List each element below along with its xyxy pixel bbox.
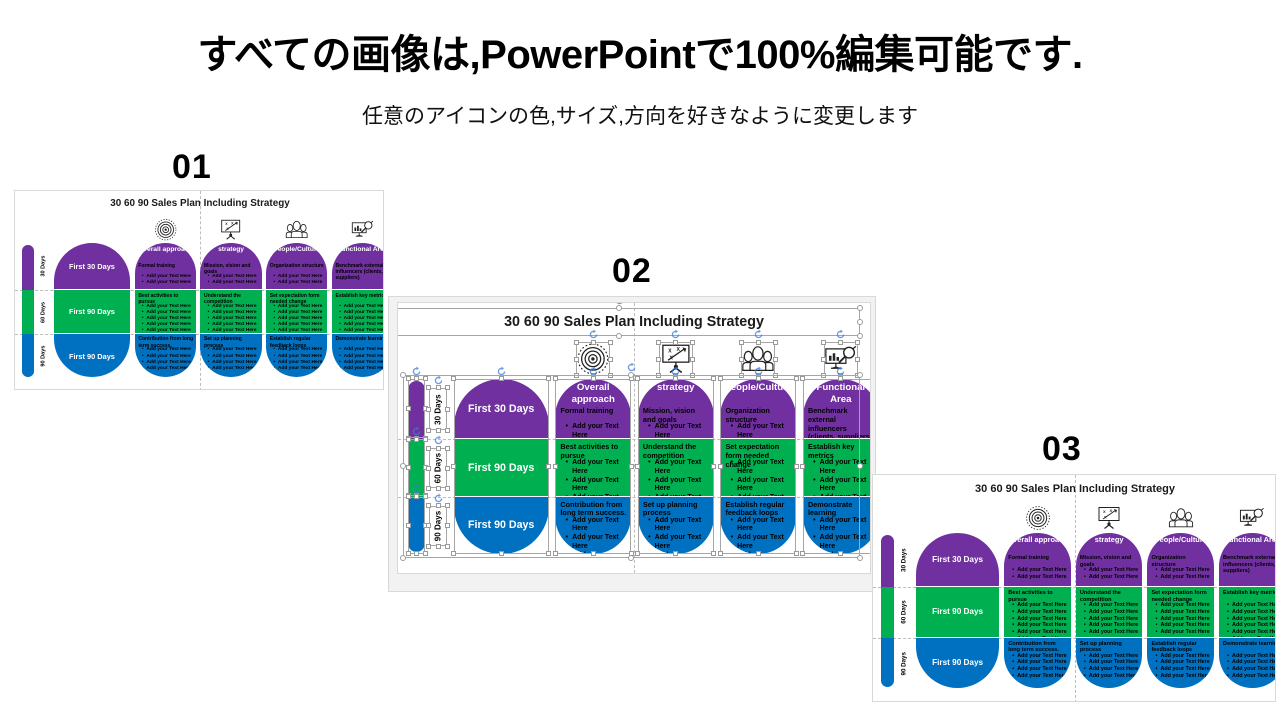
target-icon[interactable] [1025, 505, 1051, 531]
resize-handle[interactable] [608, 373, 613, 378]
phase-label-2: First 90 Days [916, 607, 999, 616]
content-block[interactable]: Establish regular feedback loopsAdd your… [720, 497, 796, 554]
bullet-item: Add your Text Here [1084, 659, 1141, 666]
resize-handle[interactable] [426, 407, 431, 412]
phase-label-3: First 90 Days [54, 352, 131, 361]
resize-handle[interactable] [673, 340, 678, 345]
content-block[interactable]: Establish key metricsAdd your Text HereA… [332, 290, 384, 333]
bullet-item: Add your Text Here [1012, 629, 1069, 636]
phase-label-1: First 30 Days [54, 262, 131, 271]
bullet-list: Add your Text HereAdd your Text Here [566, 423, 629, 438]
resize-handle[interactable] [426, 385, 431, 390]
resize-handle[interactable] [423, 551, 428, 556]
bullet-item: Add your Text Here [1155, 574, 1212, 581]
resize-handle[interactable] [423, 437, 428, 442]
people-group-icon[interactable] [285, 218, 308, 241]
resize-handle[interactable] [821, 373, 826, 378]
slide-thumbnail-03[interactable]: 30 60 90 Sales Plan Including Strategy30… [872, 474, 1276, 702]
column-heading: Functional Area [805, 382, 871, 404]
phase-label-1: First 30 Days [916, 555, 999, 564]
bullet-item: Add your Text Here [648, 459, 711, 477]
resize-handle[interactable] [855, 357, 860, 362]
step-number-01: 01 [172, 148, 212, 187]
block-subtitle: Understand the competition [643, 443, 710, 460]
bullet-item: Add your Text Here [648, 423, 711, 438]
bullet-list: Add your Text HereAdd your Text HereAdd … [1155, 653, 1212, 680]
resize-handle[interactable] [426, 523, 431, 528]
resize-handle[interactable] [773, 373, 778, 378]
whiteboard-strategy-icon[interactable]: XXX [219, 218, 242, 241]
resize-handle[interactable] [451, 464, 456, 469]
day-label-2: 60 Days [37, 290, 50, 334]
resize-handle[interactable] [553, 464, 558, 469]
resize-handle[interactable] [426, 428, 431, 433]
resize-handle[interactable] [574, 340, 579, 345]
column-heading: strategy [640, 382, 712, 393]
resize-handle[interactable] [857, 463, 863, 469]
bullet-list: Add your Text HereAdd your Text HereAdd … [1012, 653, 1069, 680]
resize-handle[interactable] [838, 340, 843, 345]
bullet-item: Add your Text Here [1227, 636, 1276, 637]
bullet-item: Add your Text Here [731, 494, 794, 496]
bullet-item: Add your Text Here [813, 534, 871, 552]
bullet-list: Add your Text HereAdd your Text Here [1155, 567, 1212, 581]
resize-handle[interactable] [616, 333, 622, 339]
resize-handle[interactable] [426, 544, 431, 549]
bullet-list: Add your Text HereAdd your Text HereAdd … [1084, 653, 1141, 680]
content-block[interactable]: strategyMission, vision and goalsAdd you… [1076, 533, 1143, 586]
resize-handle[interactable] [739, 357, 744, 362]
slide-thumbnail-01[interactable]: 30 60 90 Sales Plan Including Strategy30… [14, 190, 384, 390]
rotate-handle-icon[interactable] [588, 366, 599, 377]
block-subtitle: Demonstrate learning [335, 336, 384, 342]
block-subtitle: Formal training [138, 263, 193, 269]
target-icon[interactable] [154, 218, 177, 241]
resize-handle[interactable] [857, 372, 863, 378]
content-block[interactable]: People/CultureOrganization structureAdd … [720, 379, 796, 439]
content-block[interactable]: Set up planning processAdd your Text Her… [1076, 638, 1143, 688]
resize-handle[interactable] [629, 464, 634, 469]
bullet-item: Add your Text Here [1227, 629, 1276, 636]
bullet-item: Add your Text Here [1227, 602, 1276, 609]
bullet-list: Add your Text HereAdd your Text HereAdd … [566, 517, 629, 554]
content-block[interactable]: Contribution from long term success.Add … [555, 497, 631, 554]
block-subtitle: Benchmark external influencers (clients,… [1223, 555, 1276, 575]
column-heading: People/Culture [722, 382, 794, 393]
slide-title: 30 60 90 Sales Plan Including Strategy [15, 198, 384, 209]
resize-handle[interactable] [794, 551, 799, 556]
bullet-item: Add your Text Here [273, 328, 325, 333]
bullet-item: Add your Text Here [1012, 673, 1069, 680]
resize-handle[interactable] [406, 406, 411, 411]
content-block[interactable]: Overall approachFormal trainingAdd your … [135, 243, 196, 289]
content-block[interactable]: People/CultureOrganization structureAdd … [266, 243, 327, 289]
bullet-item: Add your Text Here [1012, 602, 1069, 609]
resize-handle[interactable] [499, 551, 504, 556]
resize-handle[interactable] [718, 551, 723, 556]
resize-handle[interactable] [406, 465, 411, 470]
bullet-item: Add your Text Here [731, 552, 794, 554]
bullet-item: Add your Text Here [1084, 609, 1141, 616]
resize-handle[interactable] [423, 494, 428, 499]
content-block[interactable]: Overall approachFormal trainingAdd your … [1004, 533, 1071, 586]
bullet-item: Add your Text Here [731, 423, 794, 438]
svg-text:X: X [668, 349, 672, 355]
resize-handle[interactable] [445, 523, 450, 528]
bullet-list: Add your Text HereAdd your Text HereAdd … [648, 459, 711, 496]
bullet-item: Add your Text Here [208, 366, 260, 372]
rotate-handle-icon[interactable] [670, 366, 681, 377]
resize-handle[interactable] [445, 486, 450, 491]
rotate-handle-icon[interactable] [670, 329, 681, 340]
rotate-handle-icon[interactable] [433, 493, 444, 504]
resize-handle[interactable] [756, 340, 761, 345]
resize-handle[interactable] [546, 376, 551, 381]
resize-handle[interactable] [800, 464, 805, 469]
resize-handle[interactable] [756, 551, 761, 556]
phase-block-1[interactable]: First 30 Days [54, 243, 131, 289]
rotate-handle-icon[interactable] [626, 362, 637, 373]
content-block[interactable]: Best activities to pursueAdd your Text H… [135, 290, 196, 333]
bullet-list: Add your Text HereAdd your Text HereAdd … [648, 517, 711, 554]
phase-block-3[interactable]: First 90 Days [454, 497, 549, 554]
resize-handle[interactable] [406, 551, 411, 556]
monitor-search-icon[interactable] [1239, 505, 1265, 531]
resize-handle[interactable] [574, 357, 579, 362]
bullet-item: Add your Text Here [1227, 673, 1276, 680]
resize-handle[interactable] [400, 372, 406, 378]
resize-handle[interactable] [608, 340, 613, 345]
timeline-bar-90-days[interactable] [22, 334, 34, 377]
resize-handle[interactable] [445, 446, 450, 451]
content-block[interactable]: Contribution from long term success.Add … [1004, 638, 1071, 688]
rotate-handle-icon[interactable] [496, 366, 507, 377]
resize-handle[interactable] [656, 340, 661, 345]
slide-title: 30 60 90 Sales Plan Including Strategy [398, 314, 870, 330]
phase-label-2: First 90 Days [454, 462, 549, 474]
resize-handle[interactable] [690, 340, 695, 345]
resize-handle[interactable] [838, 551, 843, 556]
resize-handle[interactable] [857, 319, 863, 325]
content-block[interactable]: Best activities to pursueAdd your Text H… [1004, 587, 1071, 637]
resize-handle[interactable] [800, 551, 805, 556]
resize-handle[interactable] [426, 486, 431, 491]
phase-block-3[interactable]: First 90 Days [916, 638, 999, 688]
resize-handle[interactable] [574, 373, 579, 378]
bullet-item: Add your Text Here [1084, 602, 1141, 609]
bullet-item: Add your Text Here [731, 534, 794, 552]
resize-handle[interactable] [718, 464, 723, 469]
resize-handle[interactable] [857, 555, 863, 561]
column-heading: Overall approach [557, 382, 629, 404]
resize-handle[interactable] [628, 555, 634, 561]
rotate-handle-icon[interactable] [588, 329, 599, 340]
step-number-02: 02 [612, 252, 652, 291]
content-block[interactable]: Establish key metricsAdd your Text HereA… [1219, 587, 1276, 637]
resize-handle[interactable] [794, 464, 799, 469]
bullet-list: Add your Text HereAdd your Text Here [142, 274, 194, 286]
resize-handle[interactable] [635, 551, 640, 556]
content-block[interactable]: Set up planning processAdd your Text Her… [200, 334, 261, 378]
resize-handle[interactable] [673, 376, 678, 381]
resize-handle[interactable] [739, 373, 744, 378]
bullet-item: Add your Text Here [1084, 574, 1141, 581]
bullet-item: Add your Text Here [566, 423, 629, 438]
rotate-handle-icon[interactable] [835, 366, 846, 377]
resize-handle[interactable] [414, 376, 419, 381]
bullet-item: Add your Text Here [731, 517, 794, 535]
bullet-list: Add your Text HereAdd your Text HereAdd … [273, 347, 325, 371]
block-subtitle: Organization structure [270, 263, 325, 269]
content-block[interactable]: Understand the competitionAdd your Text … [200, 290, 261, 333]
rotate-handle-icon[interactable] [835, 329, 846, 340]
bullet-item: Add your Text Here [731, 477, 794, 495]
bullet-item: Add your Text Here [1012, 653, 1069, 660]
bullet-item: Add your Text Here [566, 459, 629, 477]
resize-handle[interactable] [426, 466, 431, 471]
bullet-list: Add your Text HereAdd your Text Here [731, 423, 794, 438]
rotate-handle-icon[interactable] [433, 435, 444, 446]
slide-surface[interactable]: 30 60 90 Sales Plan Including Strategy30… [14, 190, 384, 390]
resize-handle[interactable] [414, 437, 419, 442]
page-subtitle: 任意のアイコンの色,サイズ,方向を好きなように変更します [0, 100, 1280, 130]
resize-handle[interactable] [414, 551, 419, 556]
resize-handle[interactable] [553, 551, 558, 556]
resize-handle[interactable] [436, 503, 441, 508]
resize-handle[interactable] [436, 486, 441, 491]
bullet-item: Add your Text Here [566, 534, 629, 552]
bullet-item: Add your Text Here [1012, 616, 1069, 623]
resize-handle[interactable] [400, 555, 406, 561]
bullet-list: Add your Text HereAdd your Text HereAdd … [1012, 602, 1069, 637]
block-subtitle: Contribution from long term success. [560, 501, 627, 518]
content-block[interactable]: strategyMission, vision and goalsAdd you… [638, 379, 714, 439]
rotate-handle-icon[interactable] [411, 426, 422, 437]
phase-block-3[interactable]: First 90 Days [54, 334, 131, 378]
rotate-handle-icon[interactable] [753, 329, 764, 340]
resize-handle[interactable] [711, 551, 716, 556]
resize-handle[interactable] [800, 376, 805, 381]
step-number-03: 03 [1042, 430, 1082, 469]
phase-label-3: First 90 Days [454, 519, 549, 531]
resize-handle[interactable] [445, 407, 450, 412]
bullet-item: Add your Text Here [1227, 659, 1276, 666]
resize-handle[interactable] [608, 357, 613, 362]
resize-handle[interactable] [546, 551, 551, 556]
bullet-item: Add your Text Here [1012, 666, 1069, 673]
block-subtitle: Best activities to pursue [560, 443, 627, 460]
content-block[interactable]: Demonstrate learningAdd your Text HereAd… [803, 497, 871, 554]
content-block[interactable]: Establish regular feedback loopsAdd your… [266, 334, 327, 378]
bullet-item: Add your Text Here [208, 328, 260, 333]
timeline-bar-60-days[interactable] [881, 587, 894, 638]
timeline-bar-30-days[interactable] [881, 535, 894, 587]
bullet-item: Add your Text Here [208, 280, 260, 286]
content-block[interactable]: Set up planning processAdd your Text Her… [638, 497, 714, 554]
content-block[interactable]: Set expectation form needed changeAdd yo… [720, 439, 796, 495]
bullet-item: Add your Text Here [1227, 616, 1276, 623]
resize-handle[interactable] [794, 376, 799, 381]
bullet-item: Add your Text Here [1084, 653, 1141, 660]
resize-handle[interactable] [690, 373, 695, 378]
resize-handle[interactable] [690, 357, 695, 362]
resize-handle[interactable] [445, 544, 450, 549]
resize-handle[interactable] [821, 357, 826, 362]
phase-block-2[interactable]: First 90 Days [916, 587, 999, 637]
column-heading: Overall approach [1006, 536, 1069, 545]
bullet-item: Add your Text Here [273, 280, 325, 286]
bullet-item: Add your Text Here [1012, 574, 1069, 581]
rotate-handle-icon[interactable] [411, 366, 422, 377]
monitor-search-icon[interactable] [351, 218, 374, 241]
resize-handle[interactable] [445, 428, 450, 433]
day-label-3: 90 Days [897, 638, 911, 689]
resize-handle[interactable] [553, 376, 558, 381]
bullet-list: Add your Text HereAdd your Text HereAdd … [339, 347, 384, 371]
content-block[interactable]: Contribution from long term success.Add … [135, 334, 196, 378]
bullet-list: Add your Text HereAdd your Text HereAdd … [1227, 653, 1276, 680]
resize-handle[interactable] [406, 437, 411, 442]
content-block[interactable]: Set expectation form needed changeAdd yo… [1147, 587, 1214, 637]
slide-surface[interactable]: 30 60 90 Sales Plan Including Strategy30… [872, 474, 1276, 702]
resize-handle[interactable] [445, 466, 450, 471]
bullet-item: Add your Text Here [813, 494, 871, 496]
resize-handle[interactable] [656, 373, 661, 378]
content-block[interactable]: People/CultureOrganization structureAdd … [1147, 533, 1214, 586]
column-heading: Functional Area [334, 246, 384, 254]
bullet-item: Add your Text Here [1155, 622, 1212, 629]
resize-handle[interactable] [406, 376, 411, 381]
content-block[interactable]: Establish regular feedback loopsAdd your… [1147, 638, 1214, 688]
block-subtitle: Formal training [1008, 555, 1068, 562]
bullet-item: Add your Text Here [1155, 666, 1212, 673]
bullet-item: Add your Text Here [1084, 629, 1141, 636]
block-subtitle: Establish key metrics [1223, 590, 1276, 597]
column-heading: Overall approach [137, 246, 194, 254]
resize-handle[interactable] [546, 464, 551, 469]
resize-handle[interactable] [426, 446, 431, 451]
content-block[interactable]: Understand the competitionAdd your Text … [638, 439, 714, 495]
content-block[interactable]: Functional AreaBenchmark external influe… [1219, 533, 1276, 586]
resize-handle[interactable] [451, 551, 456, 556]
resize-handle[interactable] [857, 333, 863, 339]
whiteboard-strategy-icon[interactable]: XXX [1096, 505, 1122, 531]
content-block[interactable]: Demonstrate learningAdd your Text HereAd… [332, 334, 384, 378]
timeline-bar-60-days[interactable] [22, 290, 34, 334]
svg-text:X: X [1103, 509, 1106, 514]
resize-handle[interactable] [857, 305, 863, 311]
bullet-item: Add your Text Here [339, 366, 384, 372]
content-block[interactable]: strategyMission, vision and goalsAdd you… [200, 243, 261, 289]
bullet-list: Add your Text HereAdd your Text HereAdd … [208, 347, 260, 371]
bullet-item: Add your Text Here [1012, 636, 1069, 637]
resize-handle[interactable] [711, 464, 716, 469]
resize-handle[interactable] [445, 385, 450, 390]
phase-block-2[interactable]: First 90 Days [54, 290, 131, 333]
timeline-bar-30-days[interactable] [22, 245, 34, 290]
resize-handle[interactable] [406, 523, 411, 528]
resize-handle[interactable] [436, 385, 441, 390]
rotate-handle-icon[interactable] [433, 375, 444, 386]
rotate-handle-icon[interactable] [614, 302, 625, 306]
resize-handle[interactable] [739, 340, 744, 345]
resize-handle[interactable] [635, 464, 640, 469]
resize-handle[interactable] [414, 494, 419, 499]
resize-handle[interactable] [656, 357, 661, 362]
block-subtitle: Demonstrate learning [1223, 641, 1276, 648]
bullet-list: Add your Text HereAdd your Text HereAdd … [731, 517, 794, 554]
resize-handle[interactable] [773, 340, 778, 345]
resize-handle[interactable] [436, 428, 441, 433]
resize-handle[interactable] [445, 503, 450, 508]
bullet-item: Add your Text Here [566, 477, 629, 495]
resize-handle[interactable] [436, 544, 441, 549]
resize-handle[interactable] [855, 340, 860, 345]
block-subtitle: Benchmark external influencers (clients,… [335, 263, 384, 281]
content-block[interactable]: Best activities to pursueAdd your Text H… [555, 439, 631, 495]
resize-handle[interactable] [711, 376, 716, 381]
resize-handle[interactable] [756, 376, 761, 381]
resize-handle[interactable] [838, 376, 843, 381]
slide-surface[interactable]: 30 60 90 Sales Plan Including Strategy30… [388, 296, 876, 592]
resize-handle[interactable] [821, 340, 826, 345]
content-block[interactable]: Demonstrate learningAdd your Text HereAd… [1219, 638, 1276, 688]
bullet-item: Add your Text Here [1012, 659, 1069, 666]
content-block[interactable]: Functional AreaBenchmark external influe… [803, 379, 871, 439]
slide-editing-canvas-02[interactable]: 30 60 90 Sales Plan Including Strategy30… [388, 296, 876, 592]
resize-handle[interactable] [499, 376, 504, 381]
content-block[interactable]: Overall approachFormal trainingAdd your … [555, 379, 631, 439]
bullet-list: Add your Text HereAdd your Text Here [1084, 567, 1141, 581]
phase-block-1[interactable]: First 30 Days [916, 533, 999, 586]
bullet-item: Add your Text Here [1084, 622, 1141, 629]
day-label-1: 30 Days [897, 533, 911, 587]
bullet-item: Add your Text Here [648, 477, 711, 495]
resize-handle[interactable] [426, 503, 431, 508]
resize-handle[interactable] [591, 340, 596, 345]
page-title: すべての画像は,PowerPointで100%編集可能です. [0, 22, 1280, 80]
column-heading: strategy [202, 246, 259, 254]
content-block[interactable]: Functional AreaBenchmark external influe… [332, 243, 384, 289]
timeline-bar-90-days[interactable] [881, 638, 894, 687]
rotate-handle-icon[interactable] [753, 366, 764, 377]
phase-block-1[interactable]: First 30 Days [454, 379, 549, 439]
resize-handle[interactable] [423, 376, 428, 381]
resize-handle[interactable] [591, 551, 596, 556]
phase-label-3: First 90 Days [916, 658, 999, 667]
rotate-handle-icon[interactable] [411, 484, 422, 495]
resize-handle[interactable] [436, 446, 441, 451]
bullet-item: Add your Text Here [339, 328, 384, 333]
resize-handle[interactable] [451, 376, 456, 381]
bullet-list: Add your Text HereAdd your Text HereAdd … [1227, 602, 1276, 637]
resize-handle[interactable] [673, 551, 678, 556]
phase-block-2[interactable]: First 90 Days [454, 439, 549, 495]
resize-handle[interactable] [591, 376, 596, 381]
bullet-list: Add your Text HereAdd your Text Here [208, 274, 260, 286]
bullet-item: Add your Text Here [1155, 629, 1212, 636]
resize-handle[interactable] [718, 376, 723, 381]
resize-handle[interactable] [406, 494, 411, 499]
content-block[interactable]: Set expectation form needed changeAdd yo… [266, 290, 327, 333]
resize-handle[interactable] [773, 357, 778, 362]
content-block[interactable]: Understand the competitionAdd your Text … [1076, 587, 1143, 637]
people-group-icon[interactable] [1168, 505, 1194, 531]
bullet-item: Add your Text Here [1012, 609, 1069, 616]
block-subtitle: Set up planning process [643, 501, 710, 518]
resize-handle[interactable] [635, 376, 640, 381]
bullet-item: Add your Text Here [648, 494, 711, 496]
